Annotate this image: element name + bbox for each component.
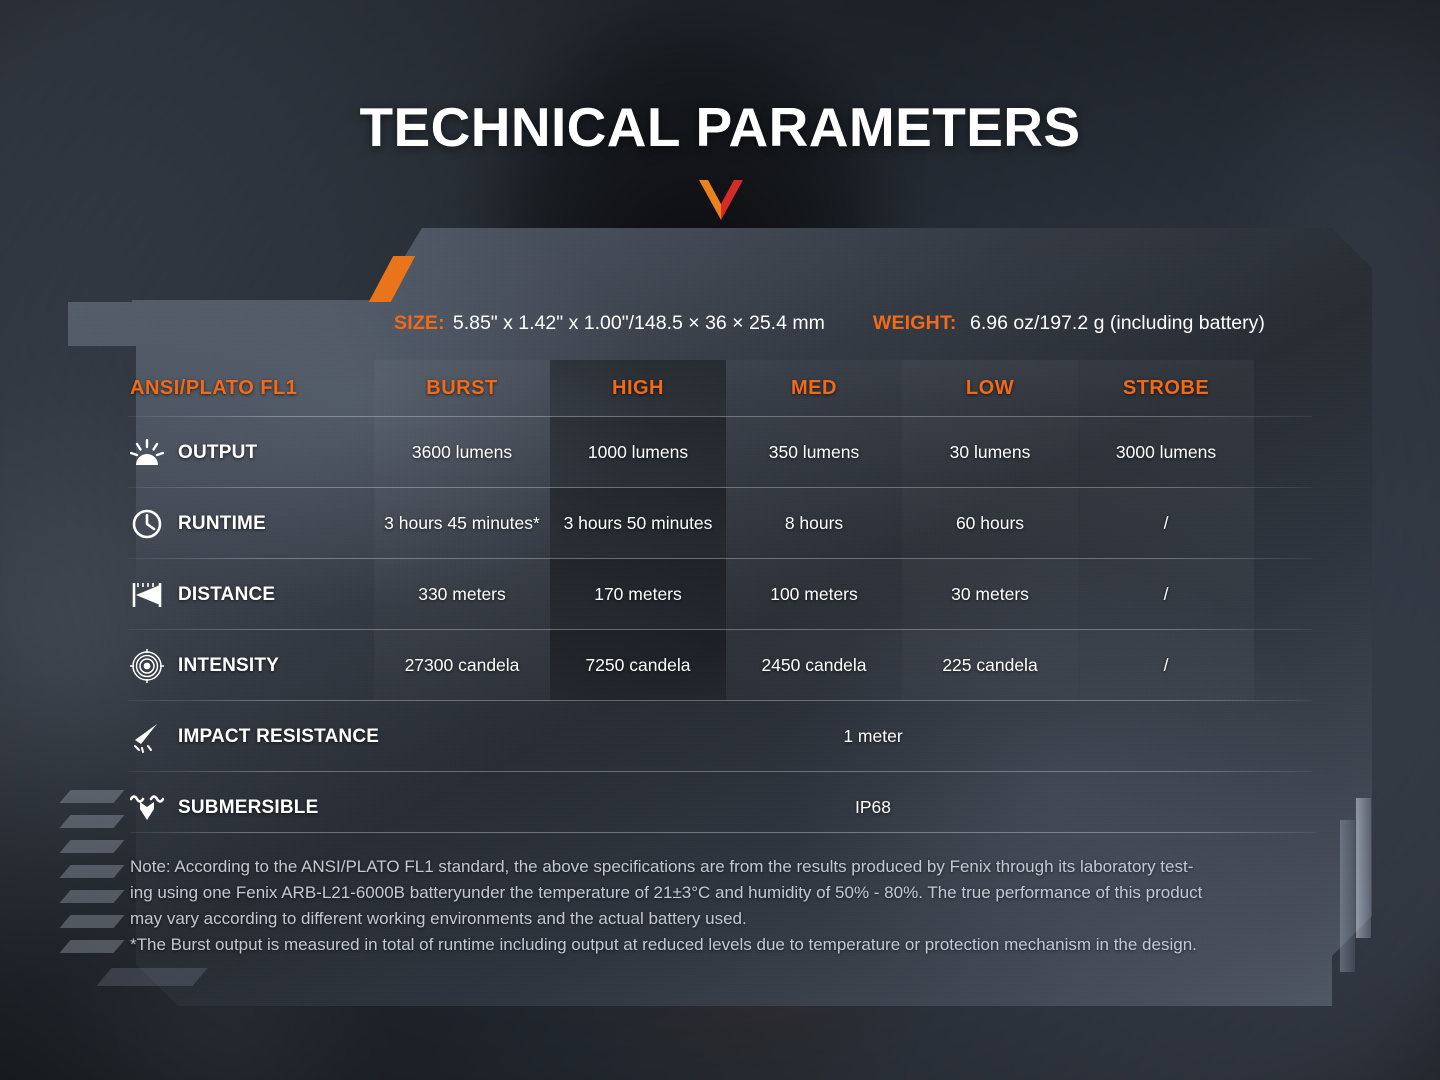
table-header-row: ANSI/PLATO FL1 BURST HIGH MED LOW STROBE: [68, 360, 1372, 417]
bottom-tab-decoration: [96, 968, 207, 986]
weight-label: WEIGHT:: [873, 312, 957, 334]
cell-runtime-low: 60 hours: [902, 488, 1078, 559]
table-row: INTENSITY 27300 candela 7250 candela 245…: [68, 630, 1372, 701]
column-header-med: MED: [726, 360, 902, 417]
sunburst-icon: [130, 436, 164, 470]
target-icon: [130, 649, 164, 683]
row-label-text: RUNTIME: [178, 513, 266, 535]
beam-distance-icon: [130, 578, 164, 612]
cell-output-high: 1000 lumens: [550, 417, 726, 488]
footnote-line-2: ing using one Fenix ARB-L21-6000B batter…: [130, 880, 1316, 906]
size-weight-line: SIZE: 5.85" x 1.42" x 1.00"/148.5 × 36 ×…: [68, 306, 1372, 340]
cell-intensity-burst: 27300 candela: [374, 630, 550, 701]
row-label-text: IMPACT RESISTANCE: [178, 726, 379, 748]
row-label-text: DISTANCE: [178, 584, 275, 606]
specifications-table: ANSI/PLATO FL1 BURST HIGH MED LOW STROBE: [68, 360, 1372, 843]
column-header-standard: ANSI/PLATO FL1: [68, 360, 374, 417]
row-label-submersible: SUBMERSIBLE: [68, 772, 374, 843]
row-label-text: INTENSITY: [178, 655, 279, 677]
footnote: Note: According to the ANSI/PLATO FL1 st…: [130, 854, 1316, 958]
cell-intensity-low: 225 candela: [902, 630, 1078, 701]
size-label: SIZE:: [394, 312, 445, 335]
table-row: RUNTIME 3 hours 45 minutes* 3 hours 50 m…: [68, 488, 1372, 559]
spec-panel: SIZE: 5.85" x 1.42" x 1.00"/148.5 × 36 ×…: [68, 228, 1372, 1006]
cell-distance-med: 100 meters: [726, 559, 902, 630]
cell-runtime-high: 3 hours 50 minutes: [550, 488, 726, 559]
footnote-line-4: *The Burst output is measured in total o…: [130, 932, 1316, 958]
row-label-text: SUBMERSIBLE: [178, 797, 319, 819]
chevron-down-icon: [699, 180, 743, 220]
cell-output-med: 350 lumens: [726, 417, 902, 488]
footnote-line-3: may vary according to different working …: [130, 906, 1316, 932]
cell-distance-low: 30 meters: [902, 559, 1078, 630]
cell-intensity-strobe: /: [1078, 630, 1254, 701]
cell-runtime-strobe: /: [1078, 488, 1254, 559]
footnote-line-1: Note: According to the ANSI/PLATO FL1 st…: [130, 854, 1316, 880]
row-label-text: OUTPUT: [178, 442, 257, 464]
cell-output-strobe: 3000 lumens: [1078, 417, 1254, 488]
table-row: OUTPUT 3600 lumens 1000 lumens 350 lumen…: [68, 417, 1372, 488]
row-label-intensity: INTENSITY: [68, 630, 374, 701]
cell-runtime-burst: 3 hours 45 minutes*: [374, 488, 550, 559]
row-label-runtime: RUNTIME: [68, 488, 374, 559]
cell-distance-high: 170 meters: [550, 559, 726, 630]
table-row: IMPACT RESISTANCE 1 meter: [68, 701, 1372, 772]
cell-output-low: 30 lumens: [902, 417, 1078, 488]
cell-intensity-med: 2450 candela: [726, 630, 902, 701]
cell-distance-strobe: /: [1078, 559, 1254, 630]
cell-impact-resistance-value: 1 meter: [374, 701, 1372, 772]
row-label-impact-resistance: IMPACT RESISTANCE: [68, 701, 374, 772]
cell-runtime-med: 8 hours: [726, 488, 902, 559]
column-header-strobe: STROBE: [1078, 360, 1254, 417]
row-label-distance: DISTANCE: [68, 559, 374, 630]
size-value: 5.85" x 1.42" x 1.00"/148.5 × 36 × 25.4 …: [453, 312, 825, 335]
column-header-high: HIGH: [550, 360, 726, 417]
weight-value: 6.96 oz/197.2 g (including battery): [970, 312, 1265, 334]
cell-distance-burst: 330 meters: [374, 559, 550, 630]
impact-drop-icon: [130, 720, 164, 754]
page-title: TECHNICAL PARAMETERS: [0, 95, 1440, 159]
water-drop-icon: [130, 791, 164, 825]
cell-output-burst: 3600 lumens: [374, 417, 550, 488]
column-header-burst: BURST: [374, 360, 550, 417]
row-label-output: OUTPUT: [68, 417, 374, 488]
table-row: SUBMERSIBLE IP68: [68, 772, 1372, 843]
cell-intensity-high: 7250 candela: [550, 630, 726, 701]
clock-icon: [130, 507, 164, 541]
column-header-low: LOW: [902, 360, 1078, 417]
cell-submersible-value: IP68: [374, 772, 1372, 843]
table-row: DISTANCE 330 meters 170 meters 100 meter…: [68, 559, 1372, 630]
